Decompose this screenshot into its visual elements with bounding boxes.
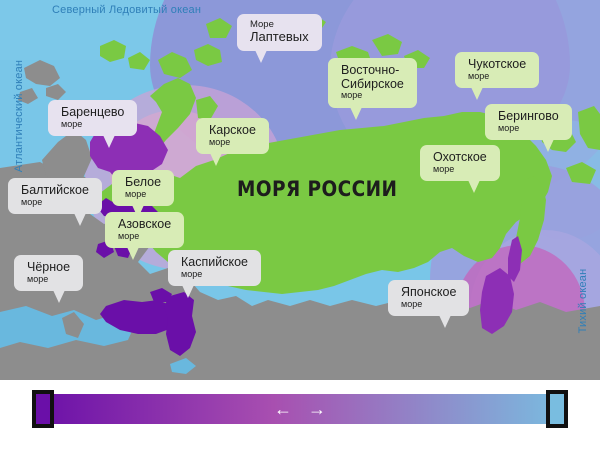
- callout-tail: [53, 290, 65, 303]
- sea-label-line1: Чёрное: [27, 261, 70, 275]
- sea-label-line1: Восточно-: [341, 64, 404, 78]
- sea-label-line1: Охотское: [433, 151, 487, 165]
- callout-tail: [468, 180, 480, 193]
- ocean-label-pacific: Тихий океан: [577, 241, 589, 361]
- sea-label-line1: Берингово: [498, 110, 559, 124]
- legend-gradient-slider[interactable]: ← →: [34, 394, 566, 424]
- sea-callout-east-siberian[interactable]: Восточно- Сибирское море: [328, 58, 417, 108]
- sea-label-line2: Лаптевых: [250, 30, 309, 44]
- callout-tail: [103, 135, 115, 148]
- sea-label-line1: Баренцево: [61, 106, 124, 120]
- sea-callout-okhotsk[interactable]: Охотское море: [420, 145, 500, 181]
- sea-label-line2: море: [498, 124, 559, 134]
- legend-panel: ← →: [0, 380, 600, 450]
- map-canvas[interactable]: Северный Ледовитый океан Атлантический о…: [0, 0, 600, 380]
- sea-label-line1: Карское: [209, 124, 256, 138]
- sea-label-line1: Японское: [401, 286, 456, 300]
- callout-tail: [542, 139, 554, 152]
- sea-callout-barents[interactable]: Баренцево море: [48, 100, 137, 136]
- sea-callout-azov[interactable]: Азовское море: [105, 212, 184, 248]
- legend-handle-left-fill: [36, 394, 50, 424]
- sea-callout-japan[interactable]: Японское море: [388, 280, 469, 316]
- infographic-root: Северный Ледовитый океан Атлантический о…: [0, 0, 600, 450]
- sea-label-line1: Каспийское: [181, 256, 248, 270]
- callout-tail: [182, 285, 194, 298]
- sea-label-line2: море: [61, 120, 124, 130]
- sea-label-line2: Сибирское: [341, 78, 404, 92]
- callout-tail: [255, 50, 267, 63]
- callout-tail: [127, 247, 139, 260]
- sea-label-line1: Балтийское: [21, 184, 89, 198]
- sea-label-line2: море: [209, 138, 256, 148]
- callout-tail: [471, 87, 483, 100]
- sea-label-line1: Белое: [125, 176, 161, 190]
- callout-tail: [439, 315, 451, 328]
- legend-handle-right-fill: [550, 394, 564, 424]
- callout-tail: [210, 153, 222, 166]
- sea-label-line2: море: [401, 300, 456, 310]
- callout-tail: [74, 213, 86, 226]
- legend-handle-left[interactable]: [32, 390, 54, 428]
- ocean-label-atlantic: Атлантический океан: [13, 56, 25, 176]
- sea-label-line2: море: [433, 165, 487, 175]
- sea-callout-white[interactable]: Белое море: [112, 170, 174, 206]
- sea-callout-kara[interactable]: Карское море: [196, 118, 269, 154]
- sea-label-line1: Азовское: [118, 218, 171, 232]
- sea-callout-laptev[interactable]: Море Лаптевых: [237, 14, 322, 51]
- sea-label-line2: море: [125, 190, 161, 200]
- sea-callout-chukchi[interactable]: Чукотское море: [455, 52, 539, 88]
- sea-callout-black[interactable]: Чёрное море: [14, 255, 83, 291]
- sea-label-line2: море: [27, 275, 70, 285]
- ocean-label-arctic: Северный Ледовитый океан: [52, 4, 201, 16]
- callout-tail: [350, 107, 362, 120]
- sea-callout-baltic[interactable]: Балтийское море: [8, 178, 102, 214]
- sea-label-line2: море: [21, 198, 89, 208]
- sea-label-line2: море: [468, 72, 526, 82]
- sea-callout-caspian[interactable]: Каспийское море: [168, 250, 261, 286]
- sea-label-line1: Чукотское: [468, 58, 526, 72]
- sea-label-line3: море: [341, 91, 404, 101]
- sea-label-line2: море: [181, 270, 248, 280]
- legend-handle-right[interactable]: [546, 390, 568, 428]
- legend-gradient-fill: [34, 394, 566, 424]
- sea-callout-bering[interactable]: Берингово море: [485, 104, 572, 140]
- map-title: МОРЯ РОССИИ: [237, 177, 397, 201]
- sea-label-line2: море: [118, 232, 171, 242]
